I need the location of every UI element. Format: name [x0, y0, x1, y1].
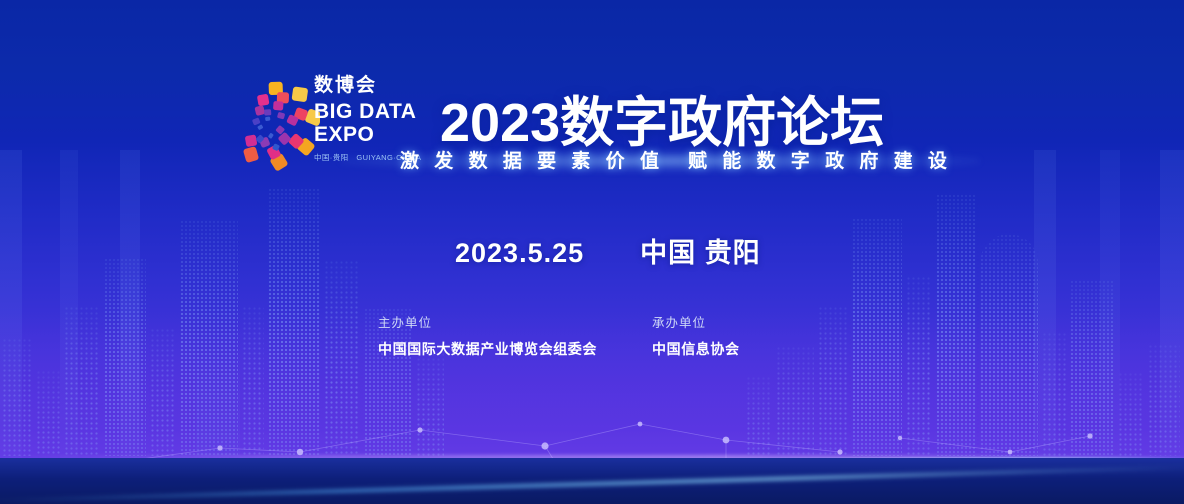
skyline-right — [714, 156, 1184, 456]
building — [1042, 332, 1066, 456]
organizer-name: 中国信息协会 — [652, 339, 740, 359]
light-streak — [0, 461, 1184, 493]
horizon-dark-base — [0, 458, 1184, 504]
light-streak — [0, 456, 1184, 472]
building — [852, 218, 902, 456]
organizer-label: 主办单位 — [378, 312, 597, 331]
building — [64, 306, 100, 456]
building — [180, 220, 238, 456]
logo-english-line1: BIG DATA — [314, 100, 434, 124]
building — [268, 188, 320, 456]
event-dateline: 2023.5.25 中国 贵阳 — [455, 231, 761, 270]
building — [36, 370, 60, 456]
big-data-expo-spiral-mark — [228, 70, 320, 178]
light-streak — [0, 464, 1184, 503]
building — [1148, 344, 1180, 456]
horizon-light-band — [0, 434, 1184, 504]
organizer-label: 承办单位 — [652, 312, 740, 331]
building — [416, 352, 444, 456]
building — [746, 376, 772, 456]
building — [1118, 372, 1144, 456]
building — [196, 360, 240, 456]
building — [818, 306, 848, 456]
building — [936, 194, 976, 456]
building — [150, 328, 176, 456]
building — [980, 234, 1038, 456]
building — [2, 338, 32, 456]
organizer-name: 中国国际大数据产业博览会组委会 — [378, 339, 597, 359]
building — [906, 276, 932, 456]
organizer-executor: 承办单位 中国信息协会 — [652, 312, 740, 359]
building — [1070, 280, 1114, 456]
building — [776, 346, 814, 456]
right-glow-columns — [864, 150, 1184, 504]
left-glow-columns — [0, 150, 300, 504]
page-subtitle: 激 发 数 据 要 素 价 值 赋 能 数 字 政 府 建 设 — [400, 146, 920, 173]
event-banner: 数博会 BIG DATA EXPO 中国·贵阳 GUIYANG·CHINA 20… — [0, 0, 1184, 504]
light-streak — [0, 456, 1184, 459]
building — [324, 260, 360, 456]
organizer-host: 主办单位 中国国际大数据产业博览会组委会 — [378, 312, 597, 359]
building — [242, 306, 264, 456]
logo-chinese-name: 数博会 — [314, 76, 434, 97]
light-streak — [0, 455, 1184, 483]
building — [104, 258, 146, 456]
skyline-left — [0, 156, 470, 456]
subtitle-block: 激 发 数 据 要 素 价 值 赋 能 数 字 政 府 建 设 — [400, 146, 920, 176]
logo-english-line2: EXPO — [314, 123, 434, 147]
